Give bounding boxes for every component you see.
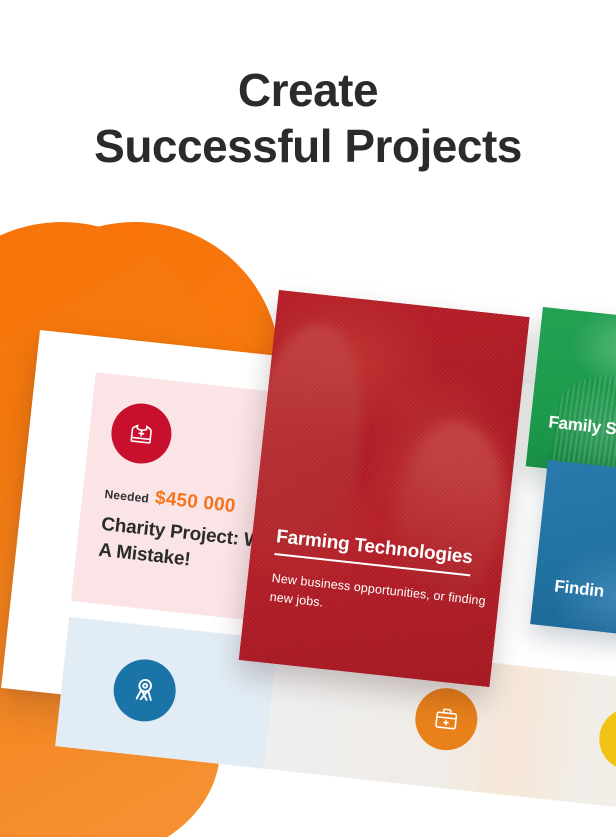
charity-card-title-line-2: A Mistake! bbox=[97, 540, 191, 571]
awareness-ribbon-icon bbox=[111, 656, 179, 724]
charity-card-title: Charity Project: W A Mistake! bbox=[97, 512, 268, 582]
farming-technologies-card[interactable]: Farming Technologies New business opport… bbox=[239, 290, 530, 687]
family-photo bbox=[526, 307, 616, 484]
needed-label: Needed bbox=[104, 487, 150, 506]
yellow-circle-icon bbox=[596, 705, 616, 773]
page-title: Create Successful Projects bbox=[0, 62, 616, 174]
family-support-card[interactable]: Family S bbox=[526, 307, 616, 484]
poster-canvas: Create Successful Projects Needed bbox=[0, 0, 616, 837]
medical-kit-icon bbox=[412, 685, 480, 753]
headline-line-1: Create bbox=[0, 62, 616, 118]
medical-vest-icon bbox=[108, 400, 174, 466]
needed-amount: $450 000 bbox=[154, 487, 237, 518]
headline-line-2: Successful Projects bbox=[0, 118, 616, 174]
